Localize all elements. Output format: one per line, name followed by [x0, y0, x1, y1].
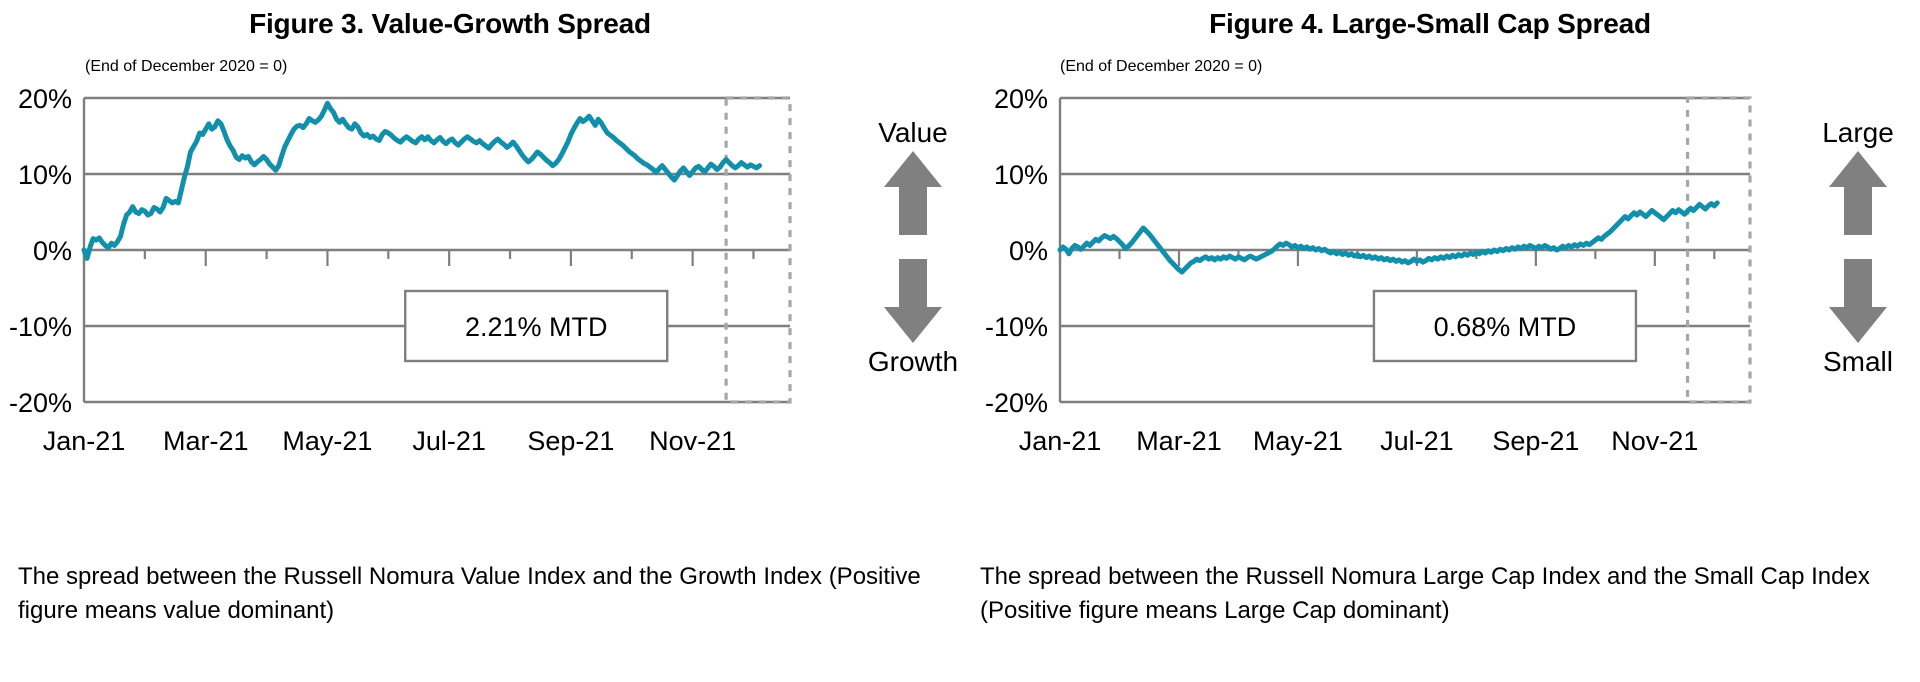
figure-3-panel: Figure 3. Value-Growth Spread (End of De… — [0, 0, 960, 682]
direction-up-label-figure-3: Value — [866, 118, 960, 147]
y-axis-tick-label: -20% — [985, 388, 1048, 418]
x-axis-tick-label: May-21 — [282, 426, 372, 456]
caption-figure-3: The spread between the Russell Nomura Va… — [18, 560, 948, 628]
page-title-figure-3: Figure 3. Value-Growth Spread — [0, 8, 900, 40]
direction-down-label-figure-3: Growth — [866, 347, 960, 376]
chart-figure-3: 20%10%0%-10%-20%2.21% MTDJan-21Mar-21May… — [0, 82, 960, 462]
caption-figure-4: The spread between the Russell Nomura La… — [980, 560, 1910, 628]
arrow-up-icon — [1827, 147, 1889, 239]
x-axis-tick-label: Jul-21 — [412, 426, 486, 456]
axis-note-figure-4: (End of December 2020 = 0) — [1060, 58, 1262, 76]
x-axis-tick-label: Jul-21 — [1380, 426, 1454, 456]
x-axis-tick-label: Sep-21 — [527, 426, 614, 456]
y-axis-tick-label: -10% — [985, 312, 1048, 342]
x-axis-tick-label: Nov-21 — [649, 426, 736, 456]
y-axis-tick-label: 0% — [1009, 236, 1048, 266]
y-axis-tick-label: 10% — [18, 160, 72, 190]
data-series-line — [1060, 203, 1717, 272]
direction-down-label-figure-4: Small — [1798, 347, 1918, 376]
axis-note-figure-3: (End of December 2020 = 0) — [85, 58, 287, 76]
y-axis-tick-label: 20% — [994, 84, 1048, 114]
y-axis-tick-label: -10% — [9, 312, 72, 342]
data-series-line — [84, 103, 760, 258]
x-axis-tick-label: Sep-21 — [1492, 426, 1579, 456]
y-axis-tick-label: 10% — [994, 160, 1048, 190]
direction-legend-figure-3: Value Growth — [866, 118, 960, 377]
chart-svg-figure-3: 20%10%0%-10%-20%2.21% MTDJan-21Mar-21May… — [0, 82, 960, 482]
arrow-up-icon — [882, 147, 944, 239]
x-axis-tick-label: Jan-21 — [43, 426, 126, 456]
y-axis-tick-label: -20% — [9, 388, 72, 418]
chart-figure-4: 20%10%0%-10%-20%0.68% MTDJan-21Mar-21May… — [960, 82, 1920, 462]
chart-svg-figure-4: 20%10%0%-10%-20%0.68% MTDJan-21Mar-21May… — [960, 82, 1920, 482]
x-axis-tick-label: Nov-21 — [1611, 426, 1698, 456]
y-axis-tick-label: 0% — [33, 236, 72, 266]
arrow-down-icon — [882, 255, 944, 347]
x-axis-tick-label: Mar-21 — [163, 426, 249, 456]
page-title-figure-4: Figure 4. Large-Small Cap Spread — [980, 8, 1880, 40]
y-axis-tick-label: 20% — [18, 84, 72, 114]
x-axis-tick-label: May-21 — [1253, 426, 1343, 456]
arrow-down-icon — [1827, 255, 1889, 347]
mtd-value-label: 0.68% MTD — [1434, 312, 1577, 342]
x-axis-tick-label: Mar-21 — [1136, 426, 1222, 456]
figure-4-panel: Figure 4. Large-Small Cap Spread (End of… — [960, 0, 1920, 682]
direction-up-label-figure-4: Large — [1798, 118, 1918, 147]
x-axis-tick-label: Jan-21 — [1019, 426, 1102, 456]
direction-legend-figure-4: Large Small — [1798, 118, 1918, 377]
direction-arrows-figure-4 — [1798, 147, 1918, 347]
figures-page: Figure 3. Value-Growth Spread (End of De… — [0, 0, 1920, 682]
direction-arrows-figure-3 — [866, 147, 960, 347]
mtd-value-label: 2.21% MTD — [465, 312, 608, 342]
